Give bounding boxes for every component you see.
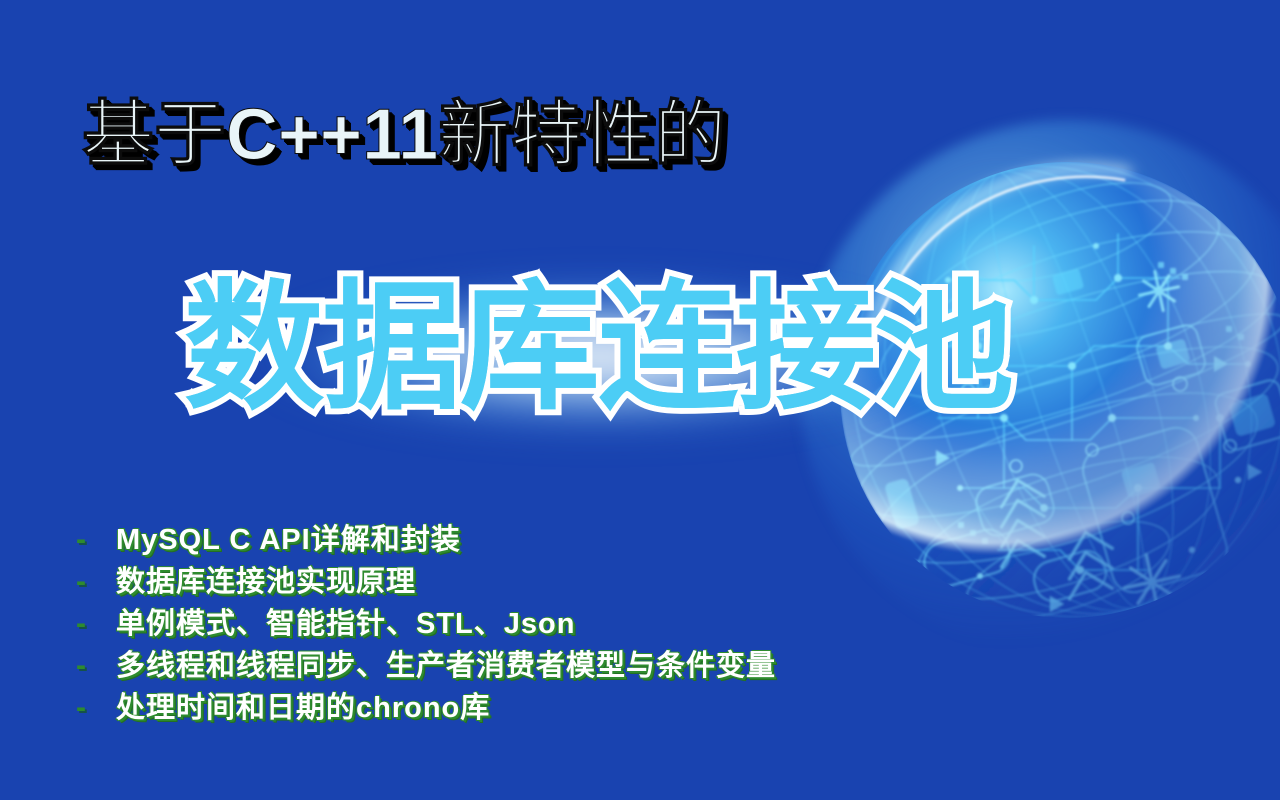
- bullet-marker-icon: -: [76, 607, 116, 641]
- list-item-label: 单例模式、智能指针、STL、Json: [116, 600, 575, 642]
- bullet-marker-icon: -: [76, 565, 116, 599]
- list-item: - MySQL C API详解和封装: [76, 516, 1076, 558]
- page-title: 数据库连接池: [184, 274, 1012, 421]
- list-item-label: 多线程和线程同步、生产者消费者模型与条件变量: [116, 642, 776, 684]
- bullet-marker-icon: -: [76, 691, 116, 725]
- bullet-marker-icon: -: [76, 523, 116, 557]
- bullet-marker-icon: -: [76, 649, 116, 683]
- feature-list: - MySQL C API详解和封装 - 数据库连接池实现原理 - 单例模式、智…: [76, 516, 1076, 726]
- list-item-label: 数据库连接池实现原理: [116, 558, 416, 600]
- poster-canvas: 基于C++11新特性的 数据库连接池 数据库连接池 - MySQL C API详…: [0, 0, 1280, 800]
- list-item: - 单例模式、智能指针、STL、Json: [76, 600, 1076, 642]
- list-item-label: MySQL C API详解和封装: [116, 516, 461, 558]
- list-item: - 数据库连接池实现原理: [76, 558, 1076, 600]
- poster-kicker: 基于C++11新特性的: [82, 98, 726, 174]
- list-item: - 多线程和线程同步、生产者消费者模型与条件变量: [76, 642, 1076, 684]
- list-item: - 处理时间和日期的chrono库: [76, 684, 1076, 726]
- list-item-label: 处理时间和日期的chrono库: [116, 684, 490, 726]
